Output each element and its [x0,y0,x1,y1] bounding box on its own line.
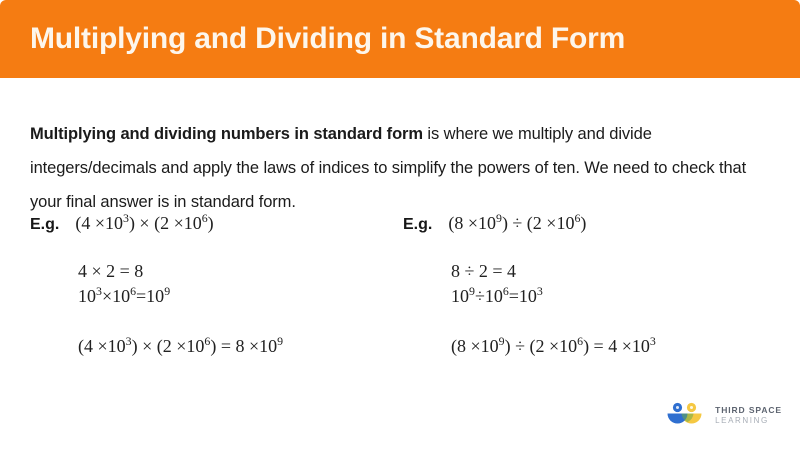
result-part: ) = 4 ×10 [583,336,650,356]
expr-part: ) ÷ (2 ×10 [502,213,575,233]
example-division: E.g. (8 ×109) ÷ (2 ×106) 8 ÷ 2 = 4 109÷1… [400,213,800,357]
third-space-learning-logo-icon [664,400,708,430]
step-line: 103×106=109 [78,284,400,309]
examples-container: E.g. (4 ×103) × (2 ×106) 4 × 2 = 8 103×1… [0,213,800,357]
eg-label: E.g. [403,216,432,234]
step-part: 10 [78,286,96,306]
expr-part: ) [580,213,586,233]
step-part: ×10 [102,286,130,306]
step-exponent: 3 [537,284,543,298]
result-exponent: 3 [650,334,656,348]
final-answer: (8 ×109) ÷ (2 ×106) = 4 ×103 [403,336,800,357]
working-steps: 4 × 2 = 8 103×106=109 [30,259,400,309]
expr-part: ) [208,213,214,233]
result-exponent: 9 [277,334,283,348]
result-part: (8 ×10 [451,336,499,356]
step-part: ÷10 [475,286,503,306]
working-steps: 8 ÷ 2 = 4 109÷106=103 [403,259,800,309]
header-banner: Multiplying and Dividing in Standard For… [0,0,800,78]
logo-wordmark: THIRD SPACE LEARNING [715,405,782,426]
result-part: ) × (2 ×10 [132,336,205,356]
step-line: 4 × 2 = 8 [78,259,400,284]
intro-lead: Multiplying and dividing numbers in stan… [30,125,423,143]
intro-paragraph: Multiplying and dividing numbers in stan… [30,117,760,219]
expr-part: (8 ×10 [448,213,496,233]
step-part: 10 [451,286,469,306]
page-title: Multiplying and Dividing in Standard For… [0,22,625,57]
step-line: 109÷106=103 [451,284,800,309]
step-part: =10 [136,286,164,306]
logo-line-1: THIRD SPACE [715,405,782,416]
step-line: 8 ÷ 2 = 4 [451,259,800,284]
step-part: =10 [509,286,537,306]
example-multiplication: E.g. (4 ×103) × (2 ×106) 4 × 2 = 8 103×1… [0,213,400,357]
expr-part: ) × (2 ×10 [129,213,202,233]
example-heading-row: E.g. (8 ×109) ÷ (2 ×106) [403,213,800,234]
result-line: (4 ×103) × (2 ×106) = 8 ×109 [78,336,400,357]
example-expression: (8 ×109) ÷ (2 ×106) [448,213,586,234]
example-heading-row: E.g. (4 ×103) × (2 ×106) [30,213,400,234]
result-part: ) ÷ (2 ×10 [505,336,578,356]
result-part: ) = 8 ×10 [210,336,277,356]
step-exponent: 9 [164,284,170,298]
logo-line-2: LEARNING [715,416,782,426]
example-expression: (4 ×103) × (2 ×106) [75,213,213,234]
eg-label: E.g. [30,216,59,234]
brand-logo: THIRD SPACE LEARNING [664,400,782,430]
final-answer: (4 ×103) × (2 ×106) = 8 ×109 [30,336,400,357]
lesson-card: Multiplying and Dividing in Standard For… [0,0,800,452]
expr-part: (4 ×10 [75,213,123,233]
result-line: (8 ×109) ÷ (2 ×106) = 4 ×103 [451,336,800,357]
result-part: (4 ×10 [78,336,126,356]
